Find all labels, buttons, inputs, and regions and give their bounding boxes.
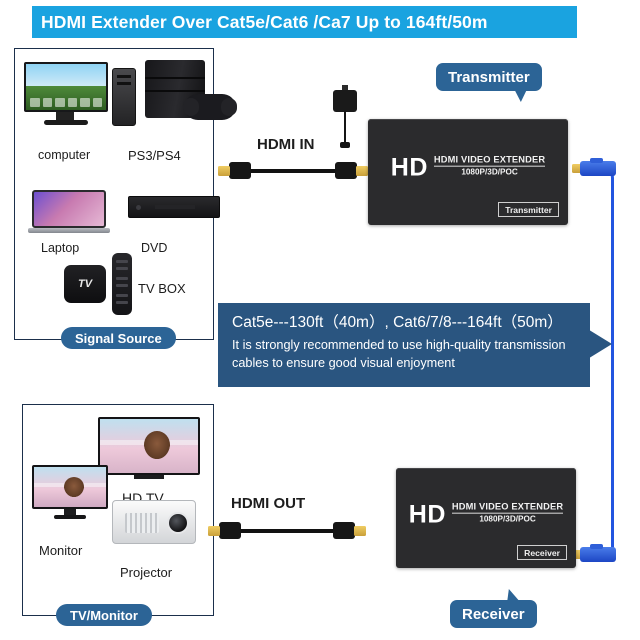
adapter-jack bbox=[340, 142, 350, 148]
tv-box-body: TV bbox=[64, 265, 106, 303]
dvd-body bbox=[128, 196, 220, 218]
label-monitor: Monitor bbox=[39, 543, 82, 558]
hdmi-plug-right bbox=[333, 522, 367, 539]
receiver-branding: HD HDMI VIDEO EXTENDER 1080P/3D/POC bbox=[396, 502, 576, 526]
tv-box-glyph: TV bbox=[64, 278, 106, 290]
hdmi-out-label: HDMI OUT bbox=[231, 495, 305, 512]
cable-wire bbox=[237, 529, 337, 533]
rj45-plug-icon bbox=[572, 161, 616, 176]
receiver-model: HDMI VIDEO EXTENDER 1080P/3D/POC bbox=[452, 502, 563, 526]
hdtv-icon bbox=[98, 417, 200, 483]
receiver-model-line1: HDMI VIDEO EXTENDER bbox=[452, 502, 563, 514]
receiver-bubble-label: Receiver bbox=[462, 606, 525, 623]
projector-body bbox=[112, 500, 196, 544]
hdmi-plug-left bbox=[217, 162, 251, 179]
diagram-canvas: HDMI Extender Over Cat5e/Cat6 /Ca7 Up to… bbox=[0, 0, 640, 640]
screen-subject bbox=[64, 477, 84, 497]
rj45-plug-icon bbox=[572, 547, 616, 562]
monitor-base bbox=[54, 515, 86, 519]
rj45-shell bbox=[580, 547, 616, 562]
remote-control-icon bbox=[112, 253, 132, 315]
adapter-cord bbox=[344, 111, 346, 144]
projector-vent bbox=[125, 513, 159, 533]
callout-recommendation: It is strongly recommended to use high-q… bbox=[232, 337, 578, 372]
ethernet-cat-cable-icon bbox=[592, 168, 614, 562]
label-tvbox: TV BOX bbox=[138, 281, 186, 296]
tower-slot bbox=[117, 75, 131, 78]
console-seam bbox=[145, 90, 205, 92]
computer-monitor-screen bbox=[24, 62, 108, 112]
rj45-clip bbox=[590, 544, 603, 549]
transmitter-brand-hd: HD bbox=[391, 156, 428, 179]
desktop-icon-row bbox=[30, 98, 102, 107]
cable-distance-callout: Cat5e---130ft（40m）, Cat6/7/8---164ft（50m… bbox=[218, 303, 590, 387]
callout-tail bbox=[586, 328, 612, 360]
receiver-callout-bubble: Receiver bbox=[450, 600, 537, 628]
transmitter-bubble-label: Transmitter bbox=[448, 69, 530, 86]
transmitter-model-line1: HDMI VIDEO EXTENDER bbox=[434, 155, 545, 167]
screen-subject bbox=[144, 431, 169, 459]
transmitter-port-tag: Transmitter bbox=[498, 202, 559, 217]
tv-box-icon: TV bbox=[64, 265, 106, 307]
page-title-banner: HDMI Extender Over Cat5e/Cat6 /Ca7 Up to… bbox=[32, 6, 577, 38]
label-laptop: Laptop bbox=[41, 241, 79, 255]
dvd-player-icon bbox=[128, 196, 220, 222]
desktop-computer-icon bbox=[24, 62, 136, 128]
laptop-screen bbox=[32, 190, 106, 228]
monitor-screen bbox=[32, 465, 108, 509]
adapter-brick bbox=[333, 90, 357, 112]
receiver-brand-hd: HD bbox=[409, 503, 446, 526]
pc-tower bbox=[112, 68, 136, 126]
laptop-base bbox=[28, 228, 110, 233]
console-seam bbox=[145, 77, 205, 79]
tower-slot bbox=[117, 82, 131, 85]
signal-source-badge: Signal Source bbox=[61, 327, 176, 349]
rj45-clip bbox=[590, 158, 603, 163]
tv-monitor-badge: TV/Monitor bbox=[56, 604, 152, 626]
hdmi-cable-icon bbox=[217, 160, 369, 182]
remote-body bbox=[112, 253, 132, 315]
transmitter-branding: HD HDMI VIDEO EXTENDER 1080P/3D/POC bbox=[368, 155, 568, 179]
rj45-shell bbox=[580, 161, 616, 176]
label-console: PS3/PS4 bbox=[128, 148, 181, 163]
dvd-tray bbox=[155, 205, 195, 209]
transmitter-model: HDMI VIDEO EXTENDER 1080P/3D/POC bbox=[434, 155, 545, 179]
hdmi-in-label: HDMI IN bbox=[257, 136, 315, 153]
game-console-icon bbox=[145, 60, 237, 130]
label-dvd: DVD bbox=[141, 241, 167, 255]
projector-lens bbox=[167, 512, 189, 534]
hdmi-plug-left bbox=[207, 522, 241, 539]
page-title: HDMI Extender Over Cat5e/Cat6 /Ca7 Up to… bbox=[32, 12, 488, 33]
hdmi-cable-icon bbox=[207, 520, 367, 542]
transmitter-model-line2: 1080P/3D/POC bbox=[434, 168, 545, 177]
bubble-tail bbox=[504, 589, 519, 602]
cable-wire bbox=[247, 169, 339, 173]
receiver-port-tag: Receiver bbox=[517, 545, 567, 560]
transmitter-callout-bubble: Transmitter bbox=[436, 63, 542, 91]
hdmi-plug-right bbox=[335, 162, 369, 179]
receiver-device: HD HDMI VIDEO EXTENDER 1080P/3D/POC Rece… bbox=[396, 468, 576, 568]
dvd-knob bbox=[136, 205, 141, 210]
hdtv-screen bbox=[98, 417, 200, 475]
power-adapter-icon bbox=[327, 90, 363, 152]
monitor-base bbox=[44, 120, 88, 125]
laptop-icon bbox=[28, 190, 110, 238]
monitor-stand bbox=[56, 112, 74, 120]
gamepad-icon bbox=[185, 94, 235, 120]
projector-icon bbox=[112, 500, 196, 550]
transmitter-device: HD HDMI VIDEO EXTENDER 1080P/3D/POC Tran… bbox=[368, 119, 568, 225]
monitor-icon bbox=[32, 465, 108, 523]
callout-distances: Cat5e---130ft（40m）, Cat6/7/8---164ft（50m… bbox=[232, 310, 578, 332]
hdtv-stand bbox=[134, 475, 164, 479]
label-projector: Projector bbox=[120, 565, 172, 580]
receiver-model-line2: 1080P/3D/POC bbox=[452, 515, 563, 524]
bubble-tail bbox=[512, 89, 527, 102]
wallpaper-sky bbox=[26, 64, 106, 86]
label-computer: computer bbox=[38, 148, 90, 162]
